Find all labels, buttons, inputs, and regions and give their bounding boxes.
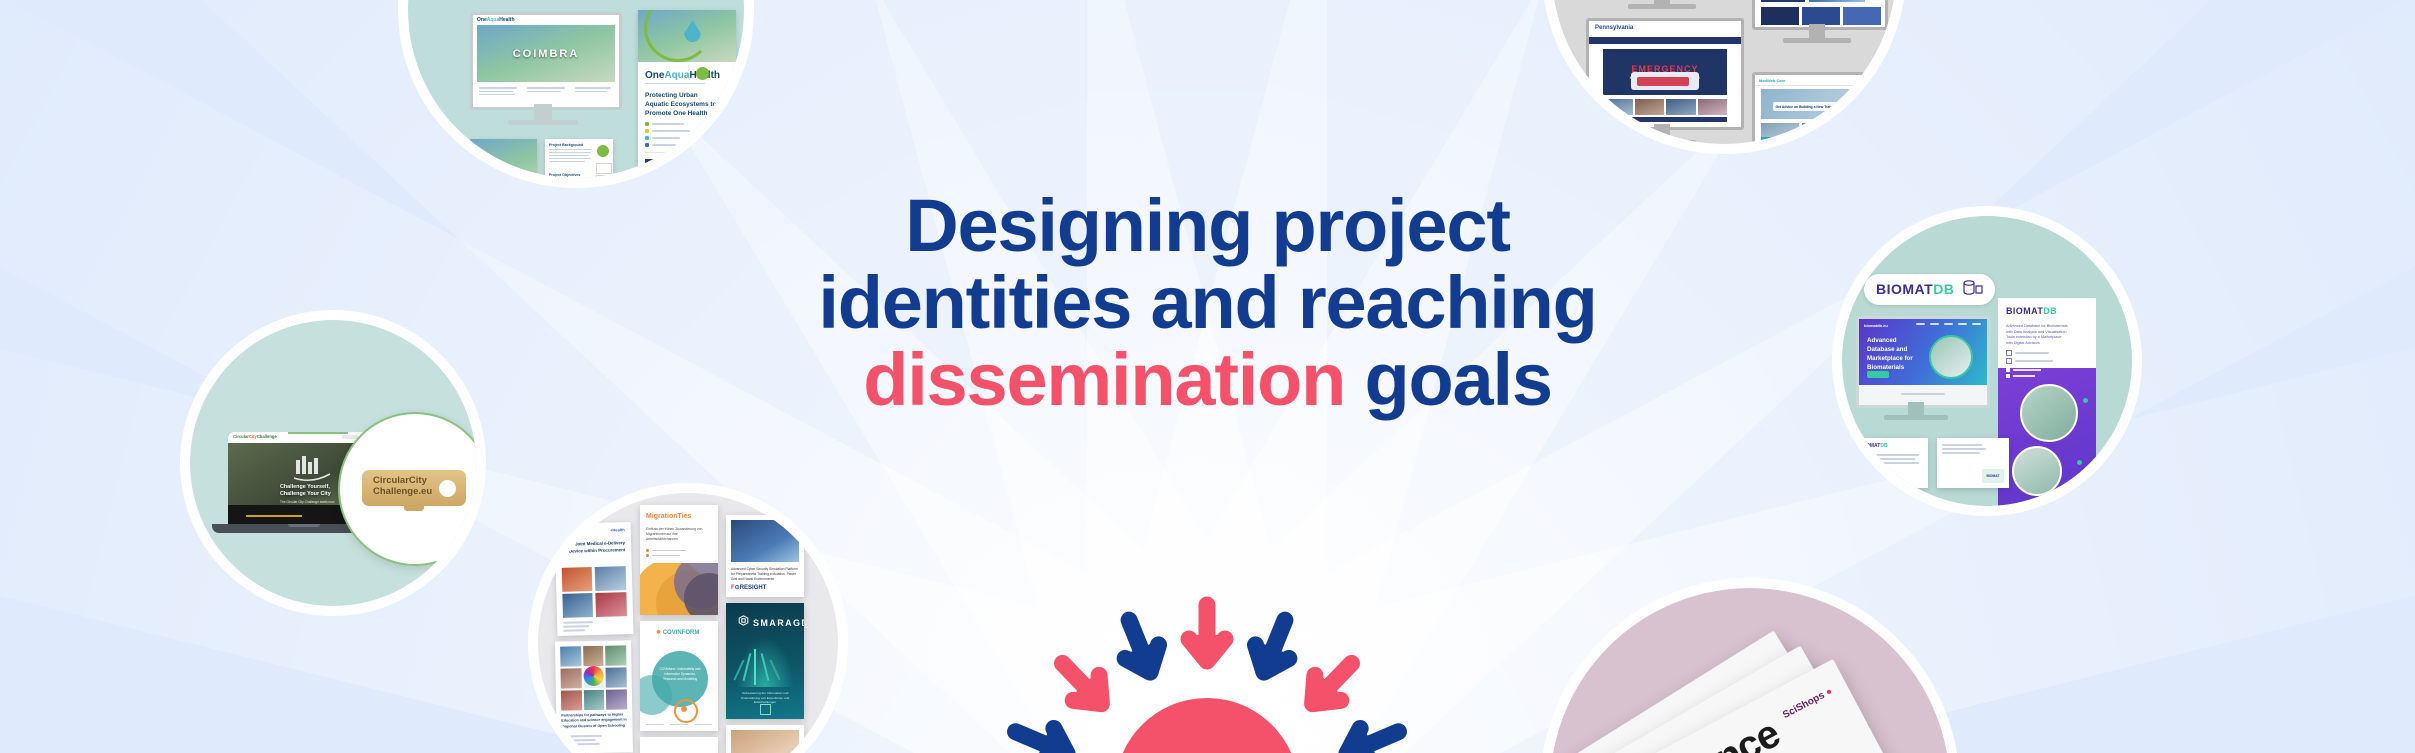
headline-line-3-rest: goals xyxy=(1365,338,1552,421)
project-circle-medical[interactable]: Pennsylvania EMERGENCY MEDICAL SERVICES … xyxy=(1542,0,1906,154)
circle-background: +Health Joint Medical e-Delivery Device … xyxy=(538,493,838,753)
flyer-covinform: ✸ COVINFORM COVinform: Vulnerability and… xyxy=(640,621,718,731)
flyer-miict: MiiCT ICT Enabled Public Services for Mi… xyxy=(640,737,718,753)
flyer-foresight: Advanced Cyber Security Simulation Platf… xyxy=(726,515,804,597)
flyer-elderly xyxy=(726,725,804,753)
usb-label-2: Challenge.eu xyxy=(373,487,432,498)
page-title: Designing project identities and reachin… xyxy=(0,188,2415,419)
usb-zoom-bubble: CircularCity Challenge.eu xyxy=(338,412,476,566)
monitor-screen: OneAquaHealth COIMBRA xyxy=(470,12,622,110)
scishops-logo: SciShops ● xyxy=(1781,686,1834,721)
circle-background: Pennsylvania EMERGENCY MEDICAL SERVICES … xyxy=(1552,0,1896,144)
circle-background: OneAquaHealth COIMBRA OneAquaHealth xyxy=(408,0,744,178)
site-card-text: Get Advice on Building a New Training Cu… xyxy=(1775,105,1856,109)
project-circle-scienceshop[interactable]: Science Shop Tips & Tricks SciShops ● xyxy=(1540,578,1960,753)
flyer-open-schooling: Partnerships for pathways to Higher Educ… xyxy=(555,640,633,753)
circularity-icon xyxy=(290,452,334,482)
headline-line-3: dissemination goals xyxy=(0,342,2415,419)
flyer-migrationties: MigrationTies Einfluss der frühen Zuwand… xyxy=(640,505,718,615)
monitor-screen-emergency: Pennsylvania EMERGENCY MEDICAL SERVICES … xyxy=(1586,18,1744,130)
hero-banner: Designing project identities and reachin… xyxy=(0,0,2415,753)
flyer-public-procurement: +Health Joint Medical e-Delivery Device … xyxy=(555,522,634,636)
arrow-5 xyxy=(1184,605,1230,701)
circle-background: Science Shop Tips & Tricks SciShops ● xyxy=(1550,588,1950,753)
website-headline: COIMBRA xyxy=(513,48,580,60)
headline-accent-word: dissemination xyxy=(863,338,1345,421)
hexagon-icon xyxy=(738,615,749,626)
project-circle-flyers[interactable]: +Health Joint Medical e-Delivery Device … xyxy=(528,483,848,753)
poster-detail: Project Background Project Objectives xyxy=(545,139,613,178)
flyer-smaragd: SMARAGD Verbesserung der Information und… xyxy=(726,603,804,719)
headline-line-1: Designing project xyxy=(0,188,2415,265)
poster-tall: OneAquaHealth Protecting Urban Aquatic E… xyxy=(638,10,736,178)
laptop-headline-2: Challenge Your City xyxy=(280,491,331,498)
project-circle-oneaquahealth[interactable]: OneAquaHealth COIMBRA OneAquaHealth xyxy=(398,0,754,188)
headline-line-2: identities and reaching xyxy=(0,265,2415,342)
oah-logo-small: OneAquaHealth xyxy=(477,17,515,23)
poster-small: OneAquaHealth xyxy=(470,139,537,178)
usb-stick: CircularCity Challenge.eu xyxy=(362,470,466,506)
